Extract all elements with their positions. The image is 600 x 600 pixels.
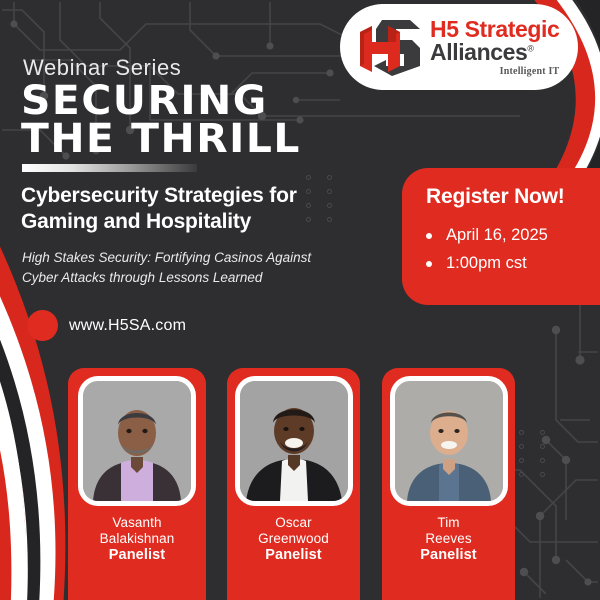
photo-frame (78, 376, 196, 506)
panelist-name: Oscar Greenwood (227, 515, 360, 546)
panelist-card: Tim Reeves Panelist (382, 368, 515, 600)
panelist-role: Panelist (227, 547, 360, 563)
h5-isometric-monogram-icon (352, 10, 426, 84)
panelist-name-line-1: Vasanth (68, 515, 206, 531)
title-line-1: Securing (21, 82, 301, 120)
website-label[interactable]: www.H5SA.com (69, 317, 186, 335)
panelist-photo-tim-reeves (395, 381, 503, 501)
brand-logo: H5 Strategic Alliances® Intelligent IT (340, 4, 578, 90)
event-time: 1:00pm cst (446, 254, 527, 273)
list-item: 1:00pm cst (426, 254, 600, 273)
event-date: April 16, 2025 (446, 226, 548, 245)
dot-grid-right (519, 430, 545, 477)
logo-line-1: H5 Strategic (430, 18, 559, 41)
panelist-role: Panelist (68, 547, 206, 563)
description-text: High Stakes Security: Fortifying Casinos… (22, 248, 322, 287)
registered-trademark-mark: ® (527, 43, 533, 53)
panelist-name-line-1: Oscar (227, 515, 360, 531)
panelist-name: Vasanth Balakishnan (68, 515, 206, 546)
bullet-icon (426, 261, 432, 267)
register-heading: Register Now! (426, 185, 600, 209)
panelist-name-line-2: Reeves (382, 531, 515, 547)
panelist-name-line-1: Tim (382, 515, 515, 531)
photo-frame (390, 376, 508, 506)
panelist-name-line-2: Balakishnan (68, 531, 206, 547)
photo-frame (235, 376, 353, 506)
logo-line-2: Alliances® (430, 41, 559, 64)
event-details-list: April 16, 2025 1:00pm cst (426, 226, 600, 273)
subtitle: Cybersecurity Strategies for Gaming and … (21, 183, 311, 234)
register-panel[interactable]: Register Now! April 16, 2025 1:00pm cst (402, 168, 600, 305)
panelist-name: Tim Reeves (382, 515, 515, 546)
panelist-card: Oscar Greenwood Panelist (227, 368, 360, 600)
panelist-photo-oscar-greenwood (240, 381, 348, 501)
bullet-icon (426, 233, 432, 239)
panelist-card: Vasanth Balakishnan Panelist (68, 368, 206, 600)
red-dot-icon (27, 310, 58, 341)
panelist-photo-vasanth-balakishnan (83, 381, 191, 501)
panelist-name-line-2: Greenwood (227, 531, 360, 547)
list-item: April 16, 2025 (426, 226, 600, 245)
title-underline-gradient (22, 164, 197, 172)
panelist-role: Panelist (382, 547, 515, 563)
title-line-2: The Thrill (21, 120, 301, 158)
logo-tagline: Intelligent IT (430, 67, 559, 77)
website-row[interactable]: www.H5SA.com (27, 310, 186, 341)
page-title: Securing The Thrill (21, 82, 301, 159)
logo-line-2-text: Alliances (430, 39, 527, 65)
webinar-promo-poster: H5 Strategic Alliances® Intelligent IT W… (0, 0, 600, 600)
